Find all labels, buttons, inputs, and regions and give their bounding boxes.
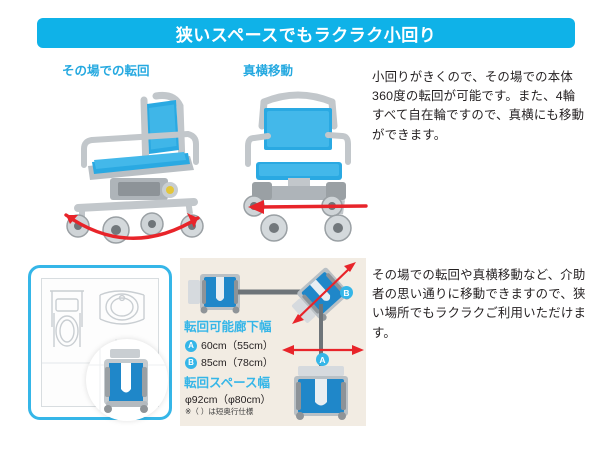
photo-chair-rotation xyxy=(48,78,213,248)
description-top: 小回りがきくので、その場での本体360度の転回が可能です。また、4輪すべて自在輪… xyxy=(372,68,587,145)
diagram-space-value: φ92cm（φ80cm） xyxy=(185,392,271,407)
photo-chair-sideways xyxy=(228,78,368,248)
top-view-chair-icon xyxy=(86,339,168,421)
bathroom-illustration-frame xyxy=(28,265,172,420)
shower-chair-side-illustration xyxy=(48,78,213,248)
page-title: 狭いスペースでもラクラク小回り xyxy=(176,21,436,46)
legend-value-b: 85cm（78cm） xyxy=(201,355,273,370)
diagram-marker-a: A xyxy=(316,353,329,366)
diagram-value-row-a: A 60cm（55cm） xyxy=(185,338,273,353)
diagram-value-row-b: B 85cm（78cm） xyxy=(185,355,273,370)
photo-caption-sideways: 真横移動 xyxy=(243,60,293,79)
legend-value-a: 60cm（55cm） xyxy=(201,338,273,353)
header-banner: 狭いスペースでもラクラク小回り xyxy=(37,18,575,48)
diagram-footnote: ※（ ）は短奥行仕様 xyxy=(185,406,253,417)
diagram-chair-top-left xyxy=(188,274,240,314)
shower-chair-front-illustration xyxy=(228,78,368,248)
product-feature-page: 狭いスペースでもラクラク小回り その場での転回 真横移動 xyxy=(0,0,600,450)
legend-marker-a: A xyxy=(185,340,197,352)
diagram-heading-space: 転回スペース幅 xyxy=(184,372,270,391)
turning-radius-diagram: B A 転回可能廊下幅 A 60cm（55cm） B 85cm（78cm） 転回… xyxy=(180,258,366,426)
description-bottom: その場での転回や真横移動など、介助者の思い通りに移動できますので、狭い場所でもラ… xyxy=(372,266,587,343)
diagram-marker-b: B xyxy=(340,286,353,299)
bathroom-illustration-inner xyxy=(41,278,159,407)
sideways-arrow-icon xyxy=(248,200,366,214)
diagram-chair-bottom xyxy=(294,366,348,420)
photo-caption-rotation: その場での転回 xyxy=(62,60,150,79)
magnified-chair-circle xyxy=(86,339,168,421)
legend-marker-b: B xyxy=(185,357,197,369)
diagram-heading-corridor: 転回可能廊下幅 xyxy=(184,316,272,335)
